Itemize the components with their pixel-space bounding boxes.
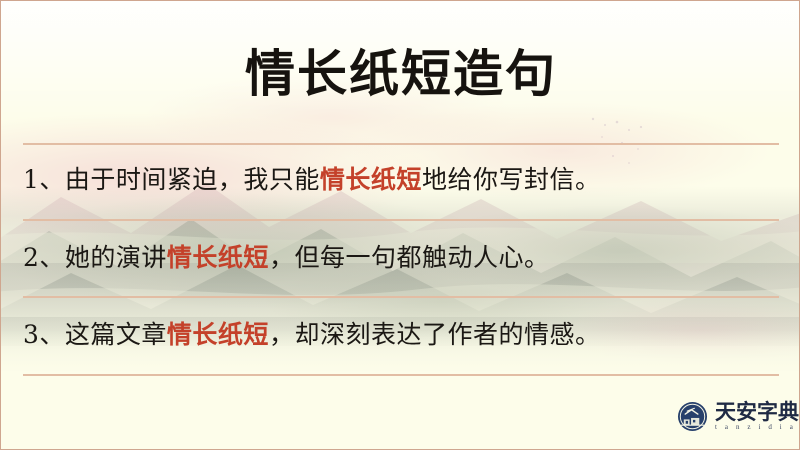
- sentence-1-before: 由于时间紧迫，我只能: [65, 165, 320, 194]
- divider-under-title: [23, 143, 779, 145]
- sentence-1-idiom: 情长纸短: [320, 165, 422, 194]
- divider-above-logo: [23, 374, 779, 376]
- brand-pinyin: t a n z i d i a n: [715, 424, 800, 431]
- poster-card: 情长纸短造句 1、由于时间紧迫，我只能情长纸短地给你写封信。 2、她的演讲情长纸…: [0, 0, 800, 450]
- divider-between-1-and-2: [23, 219, 779, 221]
- sentence-3-index: 3、: [23, 320, 65, 349]
- sentence-3-before: 这篇文章: [65, 320, 167, 349]
- example-sentence-1: 1、由于时间紧迫，我只能情长纸短地给你写封信。: [23, 163, 783, 197]
- sentence-3-idiom: 情长纸短: [167, 320, 269, 349]
- content-area: 情长纸短造句 1、由于时间紧迫，我只能情长纸短地给你写封信。 2、她的演讲情长纸…: [1, 1, 800, 450]
- sentence-2-index: 2、: [23, 243, 65, 272]
- brand-name: 天安字典: [715, 401, 800, 422]
- divider-between-2-and-3: [23, 296, 779, 298]
- sentence-1-after: 地给你写封信。: [422, 165, 601, 194]
- sentence-2-before: 她的演讲: [65, 243, 167, 272]
- sentence-3-after: ，却深刻表达了作者的情感。: [269, 320, 601, 349]
- sentence-2-idiom: 情长纸短: [167, 243, 269, 272]
- circular-seal-icon: [677, 401, 708, 432]
- page-title: 情长纸短造句: [1, 43, 800, 105]
- brand-text-block: 天安字典 t a n z i d i a n: [715, 401, 800, 431]
- sentence-1-index: 1、: [23, 165, 65, 194]
- example-sentence-2: 2、她的演讲情长纸短，但每一句都触动人心。: [23, 241, 783, 275]
- brand-logo: 天安字典 t a n z i d i a n: [677, 396, 787, 436]
- example-sentence-3: 3、这篇文章情长纸短，却深刻表达了作者的情感。: [23, 318, 783, 352]
- sentence-2-after: ，但每一句都触动人心。: [269, 243, 550, 272]
